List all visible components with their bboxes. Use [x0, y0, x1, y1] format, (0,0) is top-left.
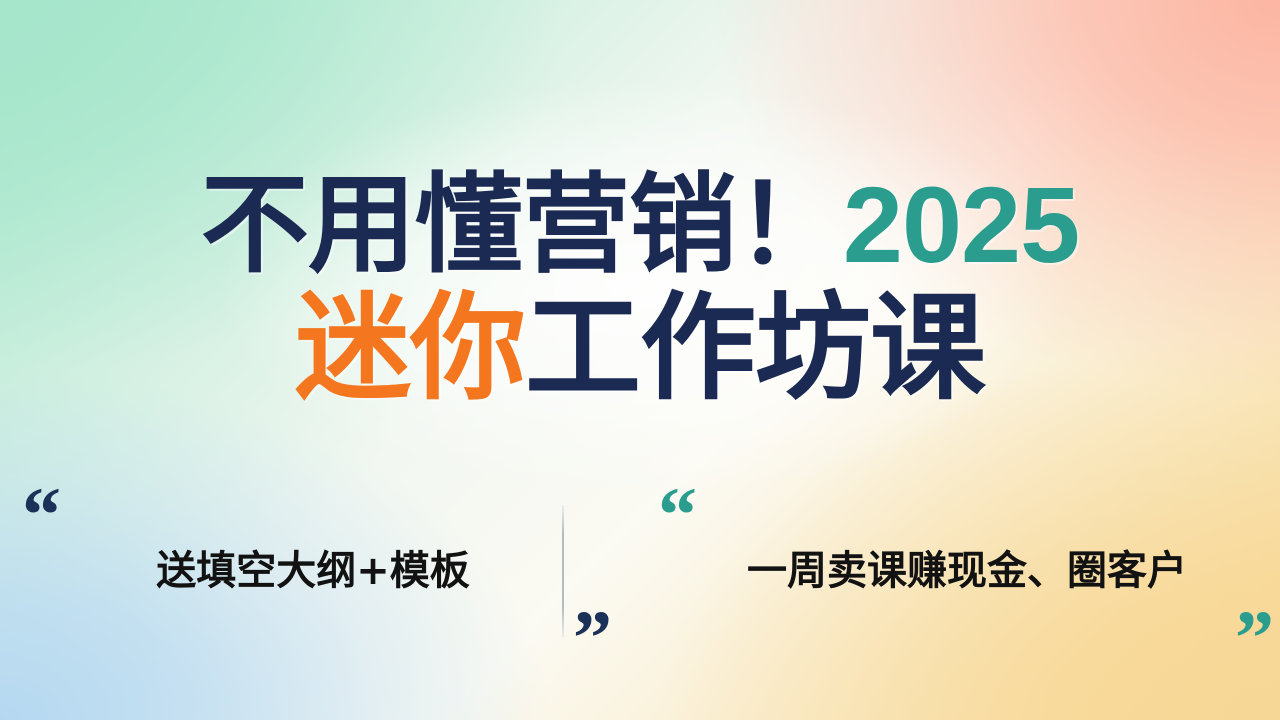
benefit-item-right: “ 一周卖课赚现金、圈客户 ”	[640, 486, 1280, 656]
headline-line-2: 迷你工作坊课	[0, 290, 1280, 407]
quote-close-icon: ”	[1235, 615, 1274, 662]
headline-line-2-segment-primary: 工作坊课	[525, 281, 985, 416]
benefits-strip: “ 送填空大纲+模板 ” “ 一周卖课赚现金、圈客户 ”	[0, 486, 1280, 656]
benefit-left-text: 送填空大纲+模板	[156, 551, 470, 591]
quote-open-icon: “	[22, 492, 61, 539]
headline-line-1-segment-year: 2025	[843, 164, 1079, 285]
benefits-divider	[562, 505, 564, 637]
quote-close-icon: ”	[573, 615, 612, 662]
headline-line-1-segment-primary: 不用懂营销！	[201, 163, 843, 288]
benefit-item-left: “ 送填空大纲+模板 ”	[0, 486, 640, 656]
benefit-right-text: 一周卖课赚现金、圈客户	[747, 551, 1187, 591]
quote-open-icon: “	[658, 492, 697, 539]
headline-line-2-segment-accent: 迷你	[295, 281, 525, 416]
headline-block: 不用懂营销！2025 迷你工作坊课	[0, 171, 1280, 407]
headline-line-1: 不用懂营销！2025	[0, 171, 1280, 280]
promo-banner: 不用懂营销！2025 迷你工作坊课 “ 送填空大纲+模板 ” “ 一周卖课赚现金…	[0, 0, 1280, 720]
